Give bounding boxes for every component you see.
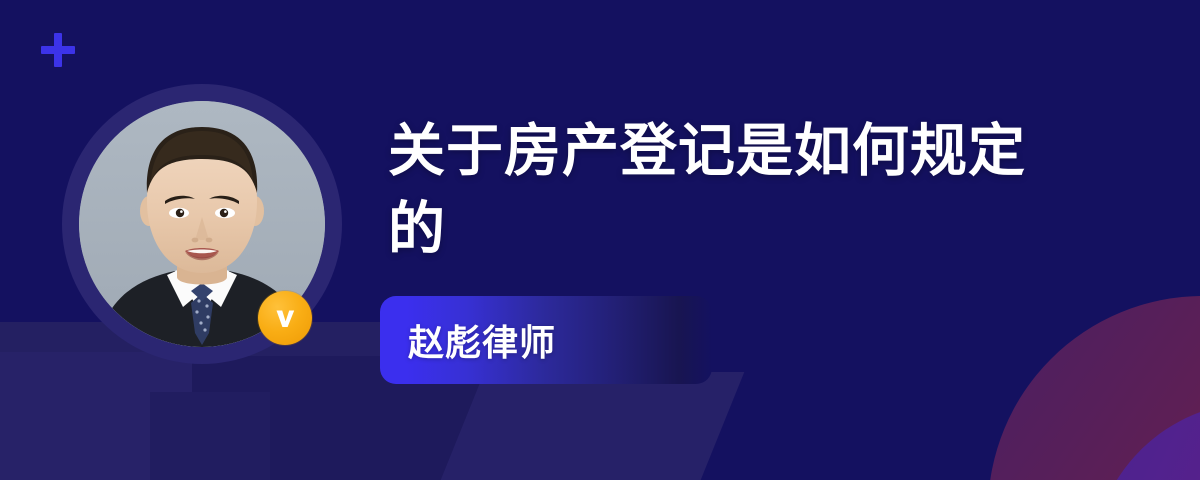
background-polygon-e (150, 392, 270, 480)
verified-badge-icon (258, 291, 312, 345)
author-name-button[interactable]: 赵彪律师 (380, 296, 712, 384)
plus-icon-vertical-bar (54, 33, 62, 67)
banner-content: 关于房产登记是如何规定的 (388, 112, 1088, 268)
lawyer-article-banner: 关于房产登记是如何规定的 赵彪律师 (0, 0, 1200, 480)
page-title: 关于房产登记是如何规定的 (388, 112, 1078, 268)
avatar[interactable] (62, 84, 346, 380)
plus-icon (41, 33, 75, 67)
